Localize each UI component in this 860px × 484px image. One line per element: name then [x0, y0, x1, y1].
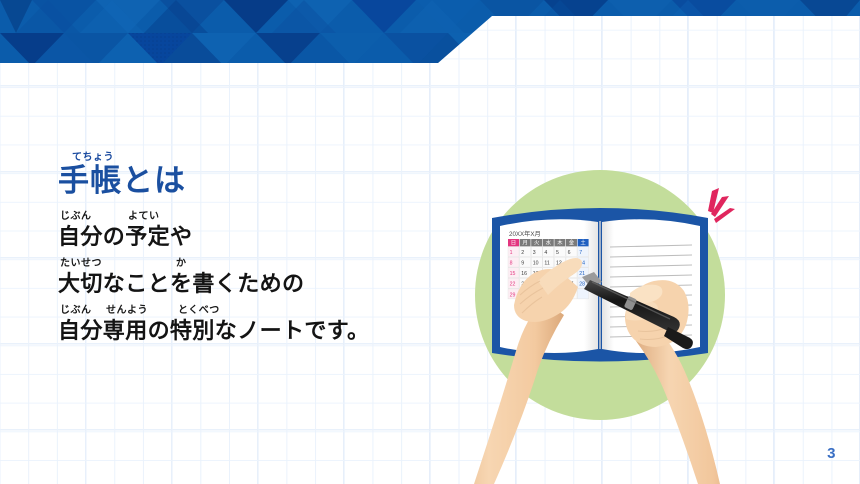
- calendar-weekday-row: 日月火水木金土: [508, 239, 589, 247]
- page-title: 手帳とは: [58, 163, 458, 199]
- action-lines-icon: [708, 188, 735, 223]
- calendar-weekday-label: 火: [534, 241, 540, 247]
- body-line-1-furigana-row: じぶん よてい: [58, 211, 458, 223]
- calendar-day-number: 3: [533, 250, 536, 256]
- calendar-day-number: 22: [510, 282, 516, 288]
- calendar-day-number: 11: [544, 261, 549, 267]
- body-line-3-text: 自分専用の特別なノートです。: [58, 317, 458, 344]
- furigana-jibun: じぶん: [60, 211, 92, 222]
- body-line-2-furigana-row: たいせつ か: [58, 258, 458, 270]
- calendar-day-number: 29: [510, 292, 516, 298]
- title-furigana: てちょう: [72, 152, 458, 163]
- body-line-1-text: 自分の予定や: [58, 223, 458, 250]
- calendar-day-number: 7: [579, 250, 582, 256]
- body-line-2: たいせつ か 大切なことを書くための: [58, 258, 458, 297]
- furigana-jibun-2: じぶん: [60, 305, 92, 316]
- calendar-day-number: 6: [568, 250, 571, 256]
- furigana-senyou: せんよう: [106, 305, 148, 316]
- furigana-yotei: よてい: [128, 211, 160, 222]
- illustration-hands-writing-in-planner: 20XX年X月 日月火水木金土 123456789101112131415161…: [430, 155, 770, 484]
- calendar-day-number: 9: [521, 261, 524, 267]
- calendar-header: 20XX年X月: [509, 230, 541, 238]
- page-title-wrap: てちょう 手帳とは: [58, 152, 458, 199]
- body-line-1: じぶん よてい 自分の予定や: [58, 211, 458, 250]
- calendar-day-number: 2: [521, 250, 524, 256]
- calendar-day-number: 5: [556, 250, 559, 256]
- body-line-3-furigana-row: じぶん せんよう とくべつ: [58, 305, 458, 317]
- slide-canvas: てちょう 手帳とは じぶん よてい 自分の予定や たいせつ か 大切なことを書く…: [0, 0, 860, 484]
- text-content-block: てちょう 手帳とは じぶん よてい 自分の予定や たいせつ か 大切なことを書く…: [58, 152, 458, 352]
- calendar-day-number: 28: [579, 282, 585, 288]
- calendar-weekday-label: 木: [557, 239, 563, 247]
- calendar-weekday-label: 水: [546, 239, 552, 247]
- header-banner: [0, 0, 860, 80]
- calendar-day-number: 15: [510, 271, 516, 277]
- body-line-2-text: 大切なことを書くための: [58, 270, 458, 297]
- calendar-day-number: 8: [510, 261, 513, 267]
- calendar-day-number: 1: [510, 250, 513, 256]
- calendar-weekday-label: 日: [511, 240, 516, 247]
- page-number: 3: [827, 445, 836, 462]
- header-triangles: [0, 0, 860, 80]
- calendar-day-number: 16: [521, 271, 527, 277]
- furigana-tokubetsu: とくべつ: [178, 305, 220, 316]
- calendar-day-number: 10: [533, 261, 539, 267]
- calendar-weekday-label: 土: [580, 239, 586, 247]
- calendar-day-number: 4: [544, 250, 547, 256]
- furigana-taisetsu: たいせつ: [60, 258, 102, 269]
- calendar-weekday-label: 月: [522, 240, 527, 247]
- calendar-weekday-label: 金: [569, 239, 575, 247]
- body-line-3: じぶん せんよう とくべつ 自分専用の特別なノートです。: [58, 305, 458, 344]
- furigana-ka: か: [176, 258, 187, 269]
